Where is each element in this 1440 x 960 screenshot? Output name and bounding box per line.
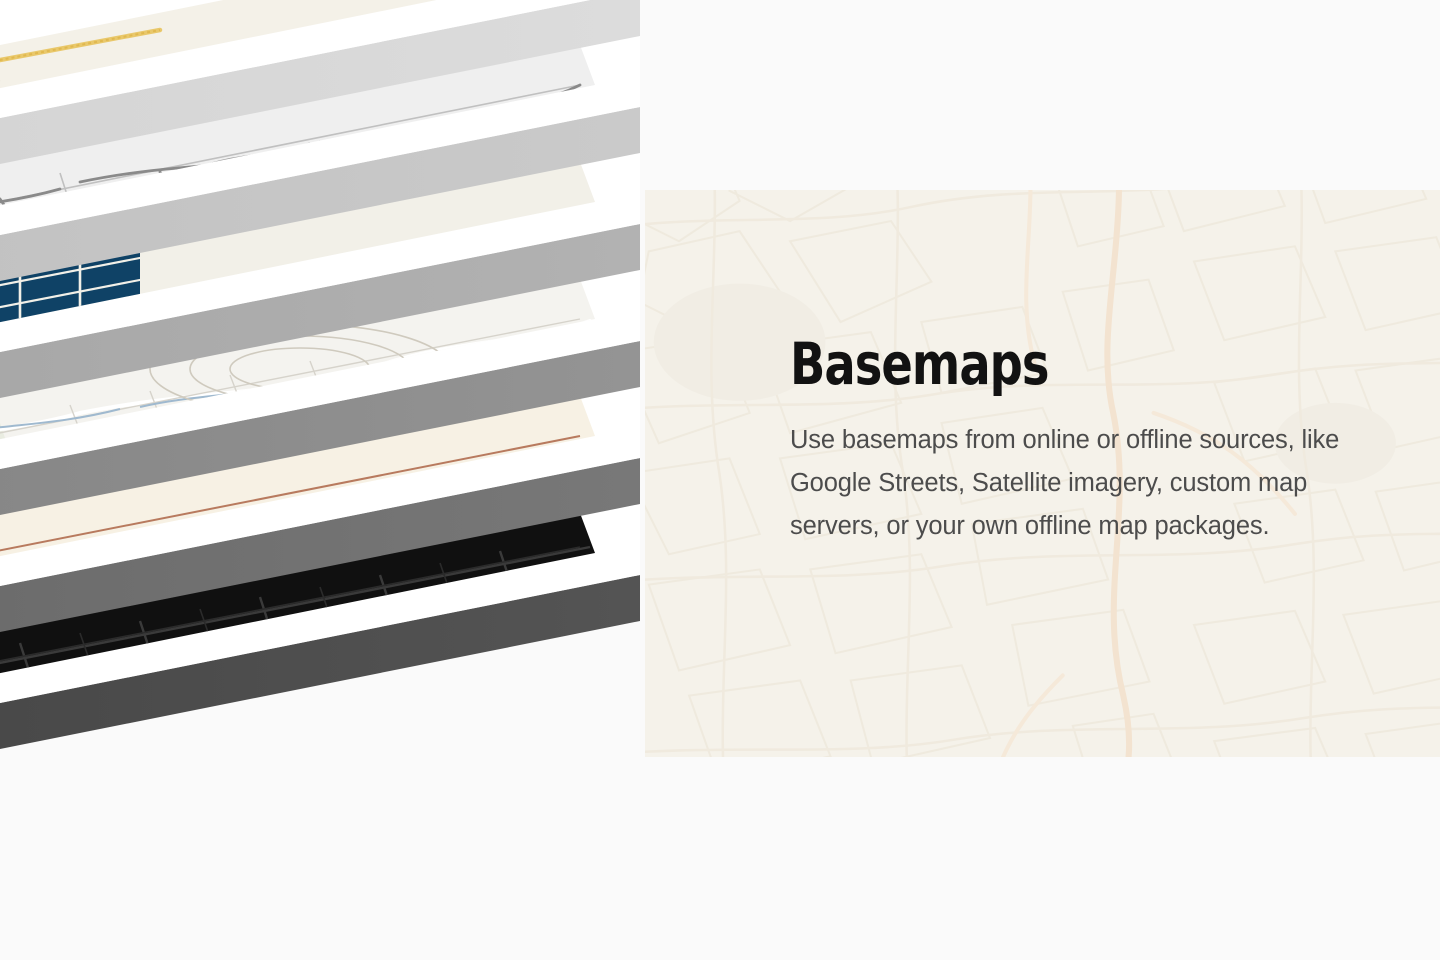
basemap-layer-light-streets[interactable]: [0, 0, 650, 270]
page-title: Basemaps: [790, 335, 1286, 393]
page-subtitle: Use basemaps from online or offline sour…: [790, 419, 1400, 548]
panel-text-block: Basemaps Use basemaps from online or off…: [790, 335, 1410, 548]
info-panel: Basemaps Use basemaps from online or off…: [645, 190, 1440, 757]
basemap-layer-stack: [0, 0, 680, 960]
